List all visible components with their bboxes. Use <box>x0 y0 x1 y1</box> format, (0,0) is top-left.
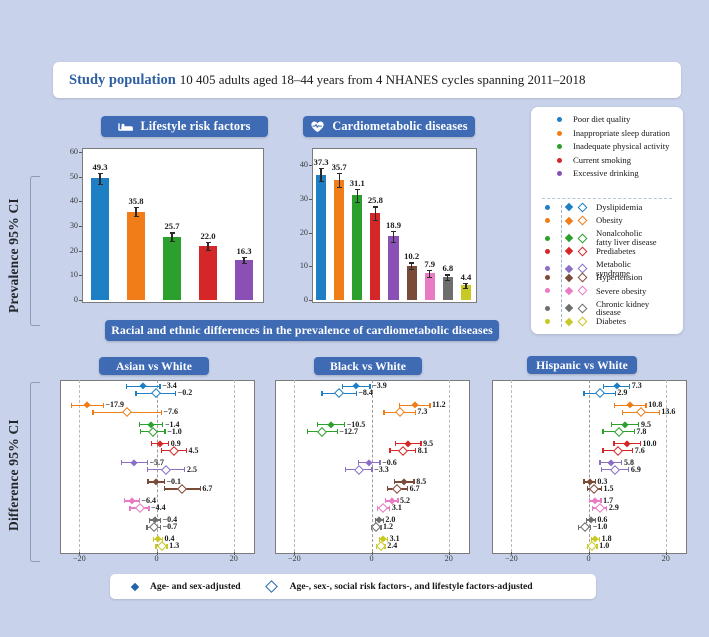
ci-value-open-5: 6.7 <box>202 484 212 493</box>
legend-filled-diamond-icon <box>565 203 573 211</box>
ci-cap-low-open-3 <box>602 448 603 453</box>
error-cap-top-4 <box>391 231 396 232</box>
ci-cap-low-filled-0 <box>603 384 604 389</box>
ci-cap-high-open-1 <box>161 410 162 415</box>
ci-cap-high-filled-1 <box>103 403 104 408</box>
legend-item-label: Excessive drinking <box>573 169 639 178</box>
ci-value-open-5: 1.5 <box>604 484 614 493</box>
ci-cap-high-filled-4 <box>147 460 148 465</box>
error-cap-top-2 <box>355 189 360 190</box>
ci-cap-high-open-3 <box>632 448 633 453</box>
ci-cap-low-filled-2 <box>611 422 612 427</box>
cardiometabolic-title-text: Cardiometabolic diseases <box>332 119 467 134</box>
ci-cap-low-filled-1 <box>71 403 72 408</box>
ci-value-open-2: 7.8 <box>636 427 646 436</box>
error-bar-1 <box>135 207 136 216</box>
ci-value-open-8: 2.4 <box>387 541 397 550</box>
gridline-20 <box>666 380 667 552</box>
legend-dot-icon <box>557 158 562 163</box>
ci-cap-high-open-1 <box>659 410 660 415</box>
legend-dot-icon <box>545 218 550 223</box>
x-axis-tick: 0 <box>362 554 382 563</box>
ci-cap-low-open-4 <box>147 467 148 472</box>
study-population-label: Study population <box>69 72 176 89</box>
legend-open-diamond-icon <box>578 216 588 226</box>
legend-item-label: Diabetes <box>596 317 658 326</box>
ci-cap-high-open-5 <box>200 486 201 491</box>
ci-value-open-6: 2.9 <box>609 503 619 512</box>
ci-value-filled-4: −5.7 <box>150 458 165 467</box>
legend-item-label: Dyslipidemia <box>596 203 658 212</box>
ci-value-open-1: −7.6 <box>163 407 178 416</box>
ci-cap-low-open-3 <box>161 448 162 453</box>
figure-canvas: Study population 10 405 adults aged 18–4… <box>0 0 709 637</box>
legend-item-disease-3: Prediabetes <box>543 247 679 256</box>
ci-value-filled-1: 11.2 <box>432 400 446 409</box>
legend-dot-icon <box>545 275 550 280</box>
legend-item-label: Current smoking <box>573 156 631 165</box>
cardiometabolic-diseases-title: Cardiometabolic diseases <box>303 116 475 137</box>
legend-dot-icon <box>545 319 550 324</box>
legend-dot-icon <box>545 306 550 311</box>
lifestyle-risk-factors-title: Lifestyle risk factors <box>101 116 268 137</box>
error-cap-bottom-4 <box>242 263 247 264</box>
ci-value-open-1: 7.3 <box>417 407 427 416</box>
ci-cap-low-filled-5 <box>394 479 395 484</box>
y-axis-tick: 20 <box>290 228 308 237</box>
ci-cap-high-filled-2 <box>162 422 163 427</box>
ci-cap-high-filled-5 <box>595 479 596 484</box>
ci-cap-low-open-4 <box>345 467 346 472</box>
legend-filled-diamond-icon <box>565 216 573 224</box>
legend-item-label: Inappropriate sleep duration <box>573 129 670 138</box>
error-bar-0 <box>99 173 100 184</box>
ci-value-open-5: 6.7 <box>410 484 420 493</box>
ci-cap-low-filled-4 <box>121 460 122 465</box>
ci-value-filled-0: −3.9 <box>372 381 387 390</box>
study-population-text: 10 405 adults aged 18–44 years from 4 NH… <box>180 72 586 88</box>
ci-value-open-4: 6.9 <box>631 465 641 474</box>
error-cap-top-5 <box>409 262 414 263</box>
ci-cap-low-filled-7 <box>149 518 150 523</box>
bar-value-label-2: 25.7 <box>158 221 186 231</box>
bar-0 <box>316 175 326 300</box>
ci-value-open-0: 2.9 <box>617 388 627 397</box>
error-cap-bottom-3 <box>206 250 211 251</box>
legend-item-disease-5: Hypertension <box>543 273 679 282</box>
bar-value-label-4: 16.3 <box>230 246 258 256</box>
ci-cap-low-filled-2 <box>317 422 318 427</box>
legend-open-diamond-icon <box>578 286 588 296</box>
y-tick-mark <box>79 226 82 227</box>
heart-pulse-icon <box>310 120 325 133</box>
error-cap-bottom-5 <box>409 269 414 270</box>
legend-dot-icon <box>545 288 550 293</box>
legend-item-lifestyle-3: Current smoking <box>543 156 677 165</box>
gridline--20 <box>511 380 512 552</box>
ci-cap-high-filled-4 <box>621 460 622 465</box>
ci-cap-high-filled-0 <box>159 384 160 389</box>
legend-open-diamond-icon <box>578 246 588 256</box>
legend-item-disease-1: Obesity <box>543 216 679 225</box>
ci-value-open-3: 8.1 <box>418 446 428 455</box>
ci-cap-low-open-0 <box>583 391 584 396</box>
ci-cap-high-open-4 <box>628 467 629 472</box>
error-cap-bottom-2 <box>355 202 360 203</box>
ci-cap-low-filled-5 <box>147 479 148 484</box>
ci-value-open-3: 4.5 <box>188 446 198 455</box>
gridline-20 <box>234 380 235 552</box>
ci-value-open-2: −12.7 <box>339 427 358 436</box>
legend-item-label: Chronic kidney disease <box>596 300 658 318</box>
ci-cap-low-filled-0 <box>126 384 127 389</box>
bar-value-label-8: 4.4 <box>452 272 480 282</box>
y-tick-mark <box>309 266 312 267</box>
ci-cap-high-open-0 <box>615 391 616 396</box>
bar-2 <box>163 237 181 300</box>
bar-2 <box>352 195 362 300</box>
ci-cap-low-open-4 <box>601 467 602 472</box>
ci-cap-high-open-5 <box>407 486 408 491</box>
legend-dot-icon <box>545 205 550 210</box>
ci-value-filled-0: 7.3 <box>632 381 642 390</box>
ci-value-open-6: 3.1 <box>392 503 402 512</box>
bar-value-label-3: 22.0 <box>194 231 222 241</box>
ci-cap-high-open-7 <box>590 525 591 530</box>
ci-cap-low-filled-6 <box>385 498 386 503</box>
legend-item-label: Obesity <box>596 216 658 225</box>
error-cap-bottom-8 <box>463 288 468 289</box>
ci-cap-low-open-7 <box>146 525 147 530</box>
legend-item-disease-7: Chronic kidney disease <box>543 300 679 318</box>
ci-value-open-1: 13.6 <box>661 407 675 416</box>
legend-open-diamond-icon <box>578 273 588 283</box>
ci-value-open-3: 7.6 <box>635 446 645 455</box>
error-cap-top-8 <box>463 283 468 284</box>
racial-title-text: Racial and ethnic differences in the pre… <box>111 323 493 338</box>
ci-cap-high-open-2 <box>164 429 165 434</box>
y-axis-tick: 30 <box>290 194 308 203</box>
ci-cap-low-open-2 <box>140 429 141 434</box>
y-tick-mark <box>79 300 82 301</box>
legend-item-label: Hypertension <box>596 273 658 282</box>
ci-cap-low-open-6 <box>129 506 130 511</box>
error-bar-0 <box>320 168 321 181</box>
ci-cap-high-open-7 <box>160 525 161 530</box>
ci-cap-high-filled-5 <box>164 479 165 484</box>
legend-filled-diamond-icon <box>565 265 573 273</box>
error-cap-top-2 <box>170 232 175 233</box>
legend-filled-diamond-icon <box>565 304 573 312</box>
ci-value-filled-1: 10.8 <box>648 400 662 409</box>
ci-value-open-2: −1.0 <box>167 427 182 436</box>
ci-cap-low-open-1 <box>92 410 93 415</box>
legend-item-disease-2: Nonalcoholic fatty liver disease <box>543 229 679 247</box>
x-axis-tick: 20 <box>224 554 244 563</box>
legend-item-disease-6: Severe obesity <box>543 287 679 296</box>
x-axis-tick: 0 <box>147 554 167 563</box>
ci-value-open-0: −0.2 <box>178 388 193 397</box>
ci-cap-low-filled-1 <box>614 403 615 408</box>
legend-dot-icon <box>557 131 562 136</box>
gridline--20 <box>294 380 295 552</box>
ci-cap-high-open-6 <box>148 506 149 511</box>
legend-divider <box>542 198 672 199</box>
ci-value-open-0: −8.4 <box>358 388 373 397</box>
legend-filled-diamond-icon <box>565 273 573 281</box>
difference-axis-label: Difference 95% CI <box>6 400 22 550</box>
legend-open-diamond-icon <box>578 202 588 212</box>
y-axis-tick: 10 <box>60 270 78 279</box>
legend-filled-diamond-icon <box>565 317 573 325</box>
ci-cap-low-filled-6 <box>589 498 590 503</box>
ci-value-open-8: 1.0 <box>599 541 609 550</box>
prevalence-axis-label: Prevalence 95% CI <box>6 186 22 326</box>
ci-cap-high-open-2 <box>634 429 635 434</box>
study-population-banner: Study population 10 405 adults aged 18–4… <box>53 62 681 98</box>
x-axis-tick: 20 <box>439 554 459 563</box>
ci-cap-low-open-2 <box>602 429 603 434</box>
legend-dot-icon <box>557 171 562 176</box>
legend-item-label: Poor diet quality <box>573 115 630 124</box>
error-cap-bottom-6 <box>427 277 432 278</box>
y-axis-tick: 0 <box>60 295 78 304</box>
legend-filled-marker-item: Age- and sex-adjusted <box>132 581 241 592</box>
error-bar-4 <box>393 231 394 242</box>
legend-item-label: Nonalcoholic fatty liver disease <box>596 229 658 247</box>
ci-cap-high-open-0 <box>356 391 357 396</box>
error-cap-bottom-4 <box>391 242 396 243</box>
bar-value-label-2: 31.1 <box>343 178 371 188</box>
ci-cap-high-open-3 <box>186 448 187 453</box>
error-bar-3 <box>375 206 376 219</box>
legend-open-diamond-icon <box>578 233 588 243</box>
y-axis-tick: 30 <box>60 221 78 230</box>
ci-cap-low-filled-3 <box>151 441 152 446</box>
error-cap-top-7 <box>445 274 450 275</box>
legend-dot-icon <box>545 236 550 241</box>
y-tick-mark <box>309 199 312 200</box>
ci-cap-high-open-6 <box>606 506 607 511</box>
legend-dot-icon <box>545 249 550 254</box>
black-vs-white-title: Black vs White <box>314 357 422 375</box>
ci-cap-low-open-6 <box>592 506 593 511</box>
ci-cap-high-open-6 <box>389 506 390 511</box>
error-cap-bottom-1 <box>134 216 139 217</box>
ci-cap-low-open-5 <box>387 486 388 491</box>
ci-cap-low-filled-2 <box>139 422 140 427</box>
error-cap-bottom-0 <box>98 184 103 185</box>
bar-1 <box>127 212 145 300</box>
error-cap-top-3 <box>373 206 378 207</box>
legend-item-lifestyle-0: Poor diet quality <box>543 115 677 124</box>
legend-dot-icon <box>557 117 562 122</box>
error-bar-2 <box>171 232 172 240</box>
gridline-20 <box>449 380 450 552</box>
ci-cap-low-open-5 <box>164 486 165 491</box>
legend-item-lifestyle-1: Inappropriate sleep duration <box>543 129 677 138</box>
legend-dot-icon <box>557 144 562 149</box>
ci-value-open-4: −3.3 <box>374 465 389 474</box>
error-cap-top-6 <box>427 270 432 271</box>
ci-cap-low-filled-6 <box>124 498 125 503</box>
ci-value-open-7: 1.2 <box>383 522 393 531</box>
x-axis-tick: 0 <box>579 554 599 563</box>
black-title-text: Black vs White <box>330 360 406 373</box>
ci-cap-high-open-2 <box>337 429 338 434</box>
error-bar-1 <box>339 173 340 187</box>
y-tick-mark <box>79 152 82 153</box>
y-tick-mark <box>79 177 82 178</box>
bar-value-label-4: 18.9 <box>380 220 408 230</box>
difference-bracket <box>30 382 40 562</box>
y-tick-mark <box>79 201 82 202</box>
y-axis-tick: 10 <box>290 261 308 270</box>
ci-cap-low-filled-5 <box>583 479 584 484</box>
ci-value-open-8: 1.3 <box>169 541 179 550</box>
ci-cap-high-filled-3 <box>168 441 169 446</box>
ci-value-open-7: −0.7 <box>163 522 178 531</box>
legend-dot-icon <box>545 266 550 271</box>
ci-cap-high-filled-1 <box>645 403 646 408</box>
legend-item-label: Prediabetes <box>596 247 658 256</box>
y-axis-tick: 60 <box>60 147 78 156</box>
ci-cap-low-open-0 <box>135 391 136 396</box>
ci-cap-low-filled-0 <box>342 384 343 389</box>
ci-value-filled-1: −17.9 <box>106 400 125 409</box>
bed-icon <box>118 121 133 132</box>
error-cap-top-3 <box>206 242 211 243</box>
y-tick-mark <box>309 233 312 234</box>
y-tick-mark <box>79 275 82 276</box>
legend-item-lifestyle-2: Inadequate physical activity <box>543 142 677 151</box>
ci-value-filled-0: −3.4 <box>162 381 177 390</box>
x-axis-tick: −20 <box>501 554 521 563</box>
hispanic-vs-white-title: Hispanic vs White <box>527 356 637 374</box>
legend-open-diamond-icon <box>578 317 588 327</box>
legend-item-disease-0: Dyslipidemia <box>543 203 679 212</box>
filled-marker-label: Age- and sex-adjusted <box>150 581 241 592</box>
ci-cap-high-filled-7 <box>160 518 161 523</box>
error-cap-top-0 <box>319 168 324 169</box>
filled-diamond-icon <box>131 582 139 590</box>
ci-cap-low-open-7 <box>578 525 579 530</box>
bar-0 <box>91 178 109 300</box>
ci-cap-high-open-5 <box>601 486 602 491</box>
legend-item-lifestyle-4: Excessive drinking <box>543 169 677 178</box>
ci-cap-high-open-4 <box>184 467 185 472</box>
open-marker-label: Age-, sex-, social risk factors-, and li… <box>290 581 533 592</box>
error-cap-top-4 <box>242 257 247 258</box>
error-cap-bottom-7 <box>445 280 450 281</box>
legend-filled-diamond-icon <box>565 287 573 295</box>
y-axis-tick: 40 <box>290 160 308 169</box>
ci-cap-low-filled-4 <box>599 460 600 465</box>
error-cap-bottom-2 <box>170 241 175 242</box>
bar-value-label-0: 49.3 <box>86 162 114 172</box>
racial-differences-title: Racial and ethnic differences in the pre… <box>105 320 499 341</box>
legend-filled-diamond-icon <box>565 247 573 255</box>
ci-cap-low-open-1 <box>383 410 384 415</box>
x-axis-tick: −20 <box>69 554 89 563</box>
bar-4 <box>388 236 398 300</box>
marker-legend: Age- and sex-adjusted Age-, sex-, social… <box>110 574 596 599</box>
bar-value-label-1: 35.7 <box>325 162 353 172</box>
ci-cap-high-open-1 <box>415 410 416 415</box>
ci-cap-high-open-4 <box>371 467 372 472</box>
error-cap-top-1 <box>134 207 139 208</box>
y-tick-mark <box>79 251 82 252</box>
ci-cap-high-open-3 <box>415 448 416 453</box>
bar-4 <box>235 260 253 300</box>
error-cap-bottom-3 <box>373 220 378 221</box>
ci-value-open-6: −4.4 <box>151 503 166 512</box>
prevalence-bracket <box>30 176 40 326</box>
ci-cap-low-open-1 <box>622 410 623 415</box>
ci-cap-high-open-0 <box>175 391 176 396</box>
hispanic-title-text: Hispanic vs White <box>536 359 628 372</box>
asian-title-text: Asian vs White <box>116 360 192 373</box>
ci-value-open-4: 2.5 <box>187 465 197 474</box>
ci-cap-low-filled-3 <box>395 441 396 446</box>
y-axis-tick: 50 <box>60 172 78 181</box>
legend-item-disease-8: Diabetes <box>543 317 679 326</box>
bar-value-label-1: 35.8 <box>122 196 150 206</box>
open-diamond-icon <box>265 580 278 593</box>
color-legend-card: Poor diet qualityInappropriate sleep dur… <box>531 107 683 334</box>
error-cap-top-0 <box>98 173 103 174</box>
ci-cap-low-open-3 <box>389 448 390 453</box>
legend-item-label: Severe obesity <box>596 287 658 296</box>
lifestyle-title-text: Lifestyle risk factors <box>140 119 250 134</box>
y-axis-tick: 40 <box>60 196 78 205</box>
y-tick-mark <box>309 300 312 301</box>
ci-value-open-7: −1.0 <box>593 522 608 531</box>
legend-open-marker-item: Age-, sex-, social risk factors-, and li… <box>267 581 533 592</box>
ci-cap-low-open-0 <box>321 391 322 396</box>
ci-cap-low-filled-3 <box>613 441 614 446</box>
bar-5 <box>407 266 417 300</box>
ci-cap-low-open-2 <box>307 429 308 434</box>
error-cap-bottom-0 <box>319 181 324 182</box>
error-cap-top-1 <box>337 173 342 174</box>
legend-open-diamond-icon <box>578 304 588 314</box>
x-axis-tick: −20 <box>284 554 304 563</box>
legend-item-label: Inadequate physical activity <box>573 142 669 151</box>
ci-cap-high-filled-1 <box>429 403 430 408</box>
x-axis-tick: 20 <box>656 554 676 563</box>
bar-1 <box>334 180 344 300</box>
ci-cap-high-filled-0 <box>629 384 630 389</box>
error-bar-2 <box>357 189 358 202</box>
y-axis-tick: 20 <box>60 246 78 255</box>
legend-filled-diamond-icon <box>565 234 573 242</box>
error-cap-bottom-1 <box>337 187 342 188</box>
ci-cap-low-open-5 <box>587 486 588 491</box>
bar-3 <box>199 246 217 300</box>
asian-vs-white-title: Asian vs White <box>99 357 209 375</box>
bar-value-label-3: 25.8 <box>361 195 389 205</box>
y-axis-tick: 0 <box>290 295 308 304</box>
ci-value-filled-5: −0.1 <box>166 477 181 486</box>
